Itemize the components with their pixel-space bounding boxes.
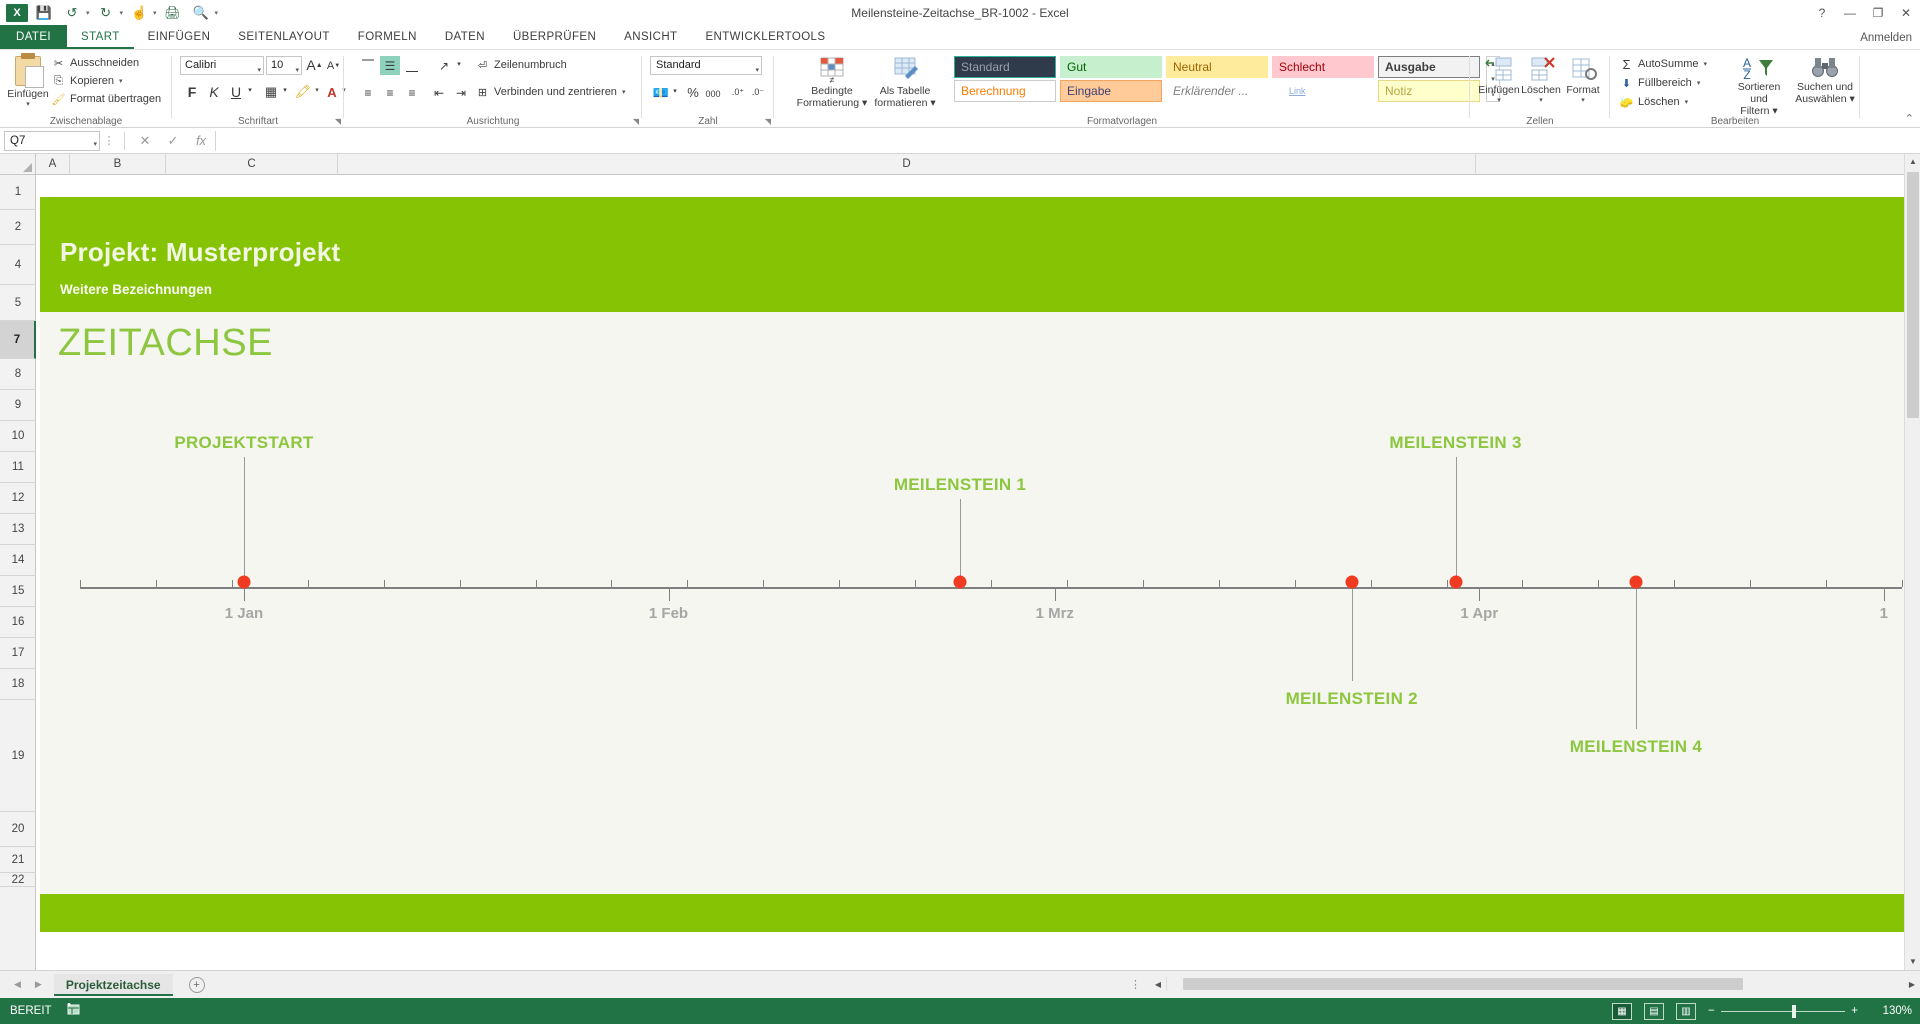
timeline-footer-banner bbox=[40, 894, 1910, 932]
cell-style-ausgabe[interactable]: Ausgabe bbox=[1378, 56, 1480, 78]
font-dialog-launcher[interactable]: ◥ bbox=[335, 117, 341, 126]
axis-minor-tick bbox=[1826, 580, 1827, 587]
row-header-1[interactable]: 1 bbox=[0, 175, 36, 210]
row-header-10[interactable]: 10 bbox=[0, 421, 36, 452]
number-format-combo[interactable]: Standard ▾ bbox=[650, 56, 762, 75]
hscroll-right-icon[interactable]: ▶ bbox=[1904, 980, 1920, 989]
axis-minor-tick bbox=[80, 580, 81, 587]
redo-icon[interactable]: ↻ bbox=[94, 3, 118, 23]
group-separator bbox=[1859, 56, 1860, 118]
wrap-text-button[interactable]: ⏎ Zeilenumbruch bbox=[476, 56, 567, 74]
format-dropdown-icon[interactable]: ▾ bbox=[1562, 96, 1604, 104]
column-header-c[interactable]: C bbox=[166, 154, 338, 175]
name-box[interactable]: Q7 ▾ bbox=[4, 131, 100, 151]
font-name-combo[interactable]: Calibri ▾ bbox=[180, 56, 264, 75]
fill-label: Füllbereich bbox=[1638, 77, 1692, 89]
axis-minor-tick bbox=[1219, 580, 1220, 587]
format-cells-icon bbox=[1562, 56, 1604, 84]
row-header-5[interactable]: 5 bbox=[0, 285, 36, 321]
axis-minor-tick bbox=[1750, 580, 1751, 587]
paintbrush-icon: 🖌 bbox=[52, 93, 65, 106]
axis-minor-tick bbox=[1067, 580, 1068, 587]
row-header-7[interactable]: 7 bbox=[0, 321, 36, 359]
tab-seitenlayout[interactable]: SEITENLAYOUT bbox=[224, 25, 344, 49]
number-dialog-launcher[interactable]: ◥ bbox=[765, 117, 771, 126]
print-preview-icon[interactable]: 🔍 bbox=[189, 3, 213, 23]
formula-bar: Q7 ▾ ⋮ ✕ ✓ fx bbox=[0, 128, 1920, 154]
group-label-styles: Formatvorlagen bbox=[774, 116, 1470, 127]
cell-style-link[interactable]: Link bbox=[1272, 80, 1374, 102]
row-header-2[interactable]: 2 bbox=[0, 210, 36, 245]
orientation-dropdown-icon[interactable]: ▾ bbox=[454, 60, 464, 68]
scroll-up-icon[interactable]: ▲ bbox=[1905, 154, 1920, 170]
font-name-value: Calibri bbox=[185, 59, 216, 71]
axis-major-tick bbox=[1884, 589, 1885, 601]
axis-minor-tick bbox=[1902, 580, 1903, 587]
view-page-break-icon[interactable]: ▥ bbox=[1676, 1003, 1696, 1020]
axis-major-tick bbox=[1479, 589, 1480, 601]
ribbon: Einfügen ▾ ✂ Ausschneiden ⎘ Kopieren ▾ 🖌… bbox=[0, 50, 1920, 128]
ribbon-tab-strip: DATEI START EINFÜGEN SEITENLAYOUT FORMEL… bbox=[0, 26, 1920, 50]
timeline-chart: 1 Jan1 Feb1 Mrz1 Apr1 PROJEKTSTARTMEILEN… bbox=[40, 362, 1910, 907]
axis-minor-tick bbox=[1674, 580, 1675, 587]
accept-entry-icon[interactable]: ✓ bbox=[159, 133, 187, 149]
insert-function-icon[interactable]: fx bbox=[187, 133, 215, 148]
clear-dropdown-icon[interactable]: ▾ bbox=[1685, 98, 1689, 106]
horizontal-scrollbar[interactable]: ⋮ ◀ ▶ bbox=[1130, 970, 1920, 998]
group-label-font: Schriftart bbox=[172, 116, 344, 127]
cell-style-schlecht[interactable]: Schlecht bbox=[1272, 56, 1374, 78]
save-icon[interactable]: 💾 bbox=[32, 3, 56, 23]
currency-dropdown-icon[interactable]: ▾ bbox=[670, 87, 680, 95]
qat-more-icon[interactable]: ▾ bbox=[215, 9, 219, 17]
timeline-section-title: ZEITACHSE bbox=[58, 322, 273, 365]
zoom-in-icon[interactable]: + bbox=[1851, 1005, 1858, 1017]
cell-style-gut[interactable]: Gut bbox=[1060, 56, 1162, 78]
axis-minor-tick bbox=[1447, 580, 1448, 587]
align-right-button[interactable]: ≡ bbox=[402, 83, 422, 102]
group-label-cells: Zellen bbox=[1470, 116, 1610, 127]
format-painter-button[interactable]: 🖌 Format übertragen bbox=[52, 90, 161, 108]
timeline-axis bbox=[80, 587, 1902, 589]
decrease-font-size-button[interactable]: A▼ bbox=[325, 56, 342, 75]
binoculars-icon bbox=[1794, 55, 1856, 81]
axis-minor-tick bbox=[1295, 580, 1296, 587]
find-select-label1: Suchen und bbox=[1794, 81, 1856, 93]
milestone-stem bbox=[960, 499, 961, 587]
find-select-button[interactable]: Suchen und Auswählen ▾ bbox=[1794, 55, 1856, 105]
thousands-format-button[interactable]: 000 bbox=[702, 86, 724, 101]
sheet-next-icon[interactable]: ▶ bbox=[35, 979, 42, 990]
copy-label: Kopieren bbox=[70, 75, 114, 87]
align-center-button[interactable]: ≡ bbox=[380, 83, 400, 102]
axis-minor-tick bbox=[1371, 580, 1372, 587]
zoom-out-icon[interactable]: − bbox=[1708, 1005, 1715, 1017]
sheet-tab-projektzeitachse[interactable]: Projektzeitachse bbox=[54, 974, 173, 996]
window-title: Meilensteine-Zeitachse_BR-1002 - Excel bbox=[0, 0, 1920, 26]
fill-button[interactable]: ⬇ Füllbereich ▾ bbox=[1620, 74, 1700, 92]
tab-entwicklertools[interactable]: ENTWICKLERTOOLS bbox=[691, 25, 839, 49]
touch-dropdown-icon[interactable]: ▾ bbox=[153, 9, 157, 17]
italic-button[interactable]: K bbox=[204, 82, 224, 102]
excel-logo-icon: X bbox=[6, 4, 28, 22]
increase-indent-button[interactable]: ⇥ bbox=[450, 83, 472, 102]
cancel-entry-icon[interactable]: ✕ bbox=[131, 133, 159, 149]
cell-style-berechnung[interactable]: Berechnung bbox=[954, 80, 1056, 102]
tab-daten[interactable]: DATEN bbox=[431, 25, 499, 49]
autosum-label: AutoSumme bbox=[1638, 58, 1699, 70]
sheet-tab-bar: ◀ ▶ Projektzeitachse + ⋮ ◀ ▶ bbox=[0, 970, 1920, 998]
milestone-dot bbox=[954, 576, 967, 589]
ribbon-group-styles: ≠ Bedingte Formatierung ▾ bbox=[774, 50, 1470, 128]
insert-cells-button[interactable]: Einfügen ▾ bbox=[1478, 56, 1520, 104]
delete-cells-label: Löschen bbox=[1520, 84, 1562, 96]
delete-dropdown-icon[interactable]: ▾ bbox=[1520, 96, 1562, 104]
copy-icon: ⎘ bbox=[52, 75, 65, 88]
select-all-button[interactable] bbox=[0, 154, 36, 175]
conditional-formatting-label1: Bedingte bbox=[796, 85, 868, 97]
milestone-label: MEILENSTEIN 2 bbox=[1286, 689, 1418, 709]
format-painter-label: Format übertragen bbox=[70, 93, 161, 105]
conditional-formatting-icon: ≠ bbox=[818, 56, 846, 84]
svg-text:≠: ≠ bbox=[830, 75, 835, 84]
group-label-editing: Bearbeiten bbox=[1610, 116, 1860, 127]
undo-dropdown-icon[interactable]: ▾ bbox=[86, 9, 90, 17]
view-normal-icon[interactable]: ▦ bbox=[1612, 1003, 1632, 1020]
title-bar: X 💾 ↺ ▾ ↻ ▾ ☝ ▾ 🖨 🔍 ▾ Meilensteine-Zeita… bbox=[0, 0, 1920, 26]
column-header-d[interactable]: D bbox=[338, 154, 1476, 175]
chevron-down-icon[interactable]: ▾ bbox=[93, 136, 97, 154]
view-page-layout-icon[interactable]: ▤ bbox=[1644, 1003, 1664, 1020]
paste-button[interactable]: Einfügen ▾ bbox=[6, 56, 50, 114]
tab-formeln[interactable]: FORMELN bbox=[344, 25, 431, 49]
percent-format-button[interactable]: % bbox=[684, 83, 702, 102]
formula-input[interactable] bbox=[215, 131, 1920, 151]
axis-minor-tick bbox=[1143, 580, 1144, 587]
scissors-icon: ✂ bbox=[52, 57, 65, 70]
copy-button[interactable]: ⎘ Kopieren ▾ bbox=[52, 72, 161, 90]
fill-color-button[interactable]: 🖍 bbox=[292, 82, 314, 102]
milestone-label: MEILENSTEIN 4 bbox=[1570, 737, 1702, 757]
cell-style-erklaerender[interactable]: Erklärender ... bbox=[1166, 80, 1268, 102]
axis-tick-label: 1 Apr bbox=[1460, 605, 1498, 622]
row-header-11[interactable]: 11 bbox=[0, 452, 36, 483]
chevron-down-icon[interactable]: ▾ bbox=[257, 62, 261, 79]
wrap-text-icon: ⏎ bbox=[476, 59, 489, 72]
axis-tick-label: 1 bbox=[1880, 605, 1888, 622]
underline-dropdown-icon[interactable]: ▾ bbox=[245, 86, 255, 94]
align-middle-button[interactable]: ☰ bbox=[380, 56, 400, 75]
axis-minor-tick bbox=[915, 580, 916, 587]
format-cells-button[interactable]: Format ▾ bbox=[1562, 56, 1604, 104]
axis-tick-label: 1 Feb bbox=[649, 605, 688, 622]
merge-cells-icon: ⊞ bbox=[476, 86, 489, 99]
insert-cells-label: Einfügen bbox=[1478, 84, 1520, 96]
milestone-label: MEILENSTEIN 1 bbox=[894, 475, 1026, 495]
restore-icon[interactable]: ❐ bbox=[1870, 6, 1886, 20]
fill-dropdown-icon[interactable]: ▾ bbox=[1697, 79, 1701, 87]
axis-minor-tick bbox=[460, 580, 461, 587]
column-header-b[interactable]: B bbox=[70, 154, 166, 175]
tab-einfuegen[interactable]: EINFÜGEN bbox=[134, 25, 225, 49]
horizontal-scroll-thumb[interactable] bbox=[1183, 978, 1743, 990]
merge-dropdown-icon[interactable]: ▾ bbox=[622, 88, 626, 96]
touch-mode-icon[interactable]: ☝ bbox=[127, 3, 151, 23]
scroll-down-icon[interactable]: ▼ bbox=[1905, 954, 1920, 970]
cell-style-standard[interactable]: Standard bbox=[954, 56, 1056, 78]
paste-label: Einfügen bbox=[7, 88, 48, 100]
format-as-table-label1: Als Tabelle bbox=[870, 85, 940, 97]
format-cells-label: Format bbox=[1562, 84, 1604, 96]
row-header-13[interactable]: 13 bbox=[0, 514, 36, 545]
insert-cells-icon bbox=[1478, 56, 1520, 84]
milestone-dot bbox=[1449, 576, 1462, 589]
axis-minor-tick bbox=[536, 580, 537, 587]
undo-icon[interactable]: ↺ bbox=[60, 3, 84, 23]
axis-major-tick bbox=[244, 589, 245, 601]
paste-icon bbox=[15, 56, 41, 86]
row-header-17[interactable]: 17 bbox=[0, 638, 36, 669]
minimize-icon[interactable]: — bbox=[1842, 6, 1858, 20]
axis-major-tick bbox=[1055, 589, 1056, 601]
ribbon-group-cells: Einfügen ▾ Löschen ▾ bbox=[1470, 50, 1610, 128]
timeline-card: Projekt: Musterprojekt Weitere Bezeichnu… bbox=[40, 197, 1910, 932]
ribbon-group-clipboard: Einfügen ▾ ✂ Ausschneiden ⎘ Kopieren ▾ 🖌… bbox=[0, 50, 172, 128]
decrease-indent-button[interactable]: ⇤ bbox=[428, 83, 450, 102]
copy-dropdown-icon[interactable]: ▾ bbox=[119, 77, 123, 85]
ribbon-group-editing: Σ AutoSumme ▾ ⬇ Füllbereich ▾ 🧽 Löschen … bbox=[1610, 50, 1860, 128]
sheet-prev-icon[interactable]: ◀ bbox=[14, 979, 21, 990]
milestone-dot bbox=[1629, 576, 1642, 589]
sheet-nav-arrows: ◀ ▶ bbox=[0, 979, 42, 990]
conditional-formatting-button[interactable]: ≠ Bedingte Formatierung ▾ bbox=[796, 56, 868, 109]
autosum-button[interactable]: Σ AutoSumme ▾ bbox=[1620, 55, 1707, 73]
format-as-table-label2: formatieren ▾ bbox=[870, 97, 940, 109]
tab-ansicht[interactable]: ANSICHT bbox=[610, 25, 691, 49]
borders-button[interactable]: ▦ bbox=[260, 82, 282, 102]
bold-button[interactable]: F bbox=[182, 82, 202, 102]
worksheet-grid: A B C D 1 2 4 5 7 8 9 10 11 12 13 14 15 … bbox=[0, 154, 1920, 970]
tab-start[interactable]: START bbox=[67, 25, 134, 49]
increase-font-size-button[interactable]: A▲ bbox=[306, 55, 323, 75]
milestone-stem bbox=[1636, 589, 1637, 729]
ribbon-group-font: Calibri ▾ 10 ▾ A▲ A▼ F K U ▾ ▦ ▾ 🖍 ▾ A ▾… bbox=[172, 50, 344, 128]
fill-down-icon: ⬇ bbox=[1620, 77, 1633, 90]
sigma-icon: Σ bbox=[1620, 58, 1633, 71]
milestone-dot bbox=[237, 576, 250, 589]
axis-minor-tick bbox=[991, 580, 992, 587]
vertical-scroll-thumb[interactable] bbox=[1907, 172, 1919, 418]
row-header-22[interactable]: 22 bbox=[0, 873, 36, 887]
conditional-formatting-label2: Formatierung ▾ bbox=[796, 97, 868, 109]
clear-label: Löschen bbox=[1638, 96, 1680, 108]
axis-minor-tick bbox=[839, 580, 840, 587]
find-select-label2: Auswählen ▾ bbox=[1794, 93, 1856, 105]
redo-dropdown-icon[interactable]: ▾ bbox=[120, 9, 124, 17]
delete-cells-button[interactable]: Löschen ▾ bbox=[1520, 56, 1562, 104]
tab-ueberpruefen[interactable]: ÜBERPRÜFEN bbox=[499, 25, 610, 49]
axis-minor-tick bbox=[232, 580, 233, 587]
font-size-value: 10 bbox=[271, 59, 283, 71]
row-header-19[interactable]: 19 bbox=[0, 700, 36, 812]
fill-color-dropdown-icon[interactable]: ▾ bbox=[312, 86, 322, 94]
milestone-label: MEILENSTEIN 3 bbox=[1389, 433, 1521, 453]
milestone-label: PROJEKTSTART bbox=[174, 433, 313, 453]
axis-minor-tick bbox=[308, 580, 309, 587]
alignment-dialog-launcher[interactable]: ◥ bbox=[633, 117, 639, 126]
divider bbox=[124, 132, 125, 150]
row-header-15[interactable]: 15 bbox=[0, 576, 36, 607]
column-headers: A B C D bbox=[36, 154, 1920, 175]
merge-center-label: Verbinden und zentrieren bbox=[494, 86, 617, 98]
split-handle-icon[interactable]: ⋮ bbox=[1130, 978, 1142, 991]
project-title: Projekt: Musterprojekt bbox=[60, 237, 340, 268]
zoom-track[interactable] bbox=[1721, 1011, 1846, 1012]
row-header-14[interactable]: 14 bbox=[0, 545, 36, 576]
axis-minor-tick bbox=[687, 580, 688, 587]
sheet-cells-area[interactable]: Projekt: Musterprojekt Weitere Bezeichnu… bbox=[36, 175, 1920, 970]
chevron-down-icon[interactable]: ▾ bbox=[755, 62, 759, 79]
sort-filter-button[interactable]: A Z Sortieren und Filtern ▾ bbox=[1728, 55, 1790, 117]
axis-minor-tick bbox=[611, 580, 612, 587]
hscroll-track[interactable] bbox=[1166, 977, 1904, 991]
sort-filter-label1: Sortieren und bbox=[1728, 81, 1790, 105]
sort-filter-icon: A Z bbox=[1728, 55, 1790, 81]
group-label-alignment: Ausrichtung bbox=[344, 116, 642, 127]
font-size-combo[interactable]: 10 ▾ bbox=[266, 56, 302, 75]
row-headers: 1 2 4 5 7 8 9 10 11 12 13 14 15 16 17 18… bbox=[0, 175, 36, 970]
orientation-button[interactable]: ↗ bbox=[434, 56, 454, 75]
axis-minor-tick bbox=[384, 580, 385, 587]
vertical-scrollbar[interactable]: ▲ ▼ bbox=[1904, 154, 1920, 970]
align-top-button[interactable]: ⎺ bbox=[358, 56, 378, 75]
column-header-a[interactable]: A bbox=[36, 154, 70, 175]
hscroll-left-icon[interactable]: ◀ bbox=[1150, 980, 1166, 989]
group-label-number: Zahl bbox=[642, 116, 774, 127]
row-header-18[interactable]: 18 bbox=[0, 669, 36, 700]
sign-in-link[interactable]: Anmelden bbox=[1860, 26, 1912, 50]
align-left-button[interactable]: ≡ bbox=[358, 83, 378, 102]
row-header-4[interactable]: 4 bbox=[0, 245, 36, 285]
formula-bar-menu-icon[interactable]: ⋮ bbox=[100, 134, 118, 147]
row-header-20[interactable]: 20 bbox=[0, 812, 36, 847]
align-bottom-button[interactable]: ⎽ bbox=[402, 56, 422, 75]
borders-dropdown-icon[interactable]: ▾ bbox=[280, 86, 290, 94]
axis-tick-label: 1 Mrz bbox=[1036, 605, 1074, 622]
status-state: BEREIT bbox=[10, 1005, 52, 1017]
zoom-slider[interactable]: − + bbox=[1708, 1005, 1858, 1017]
underline-button[interactable]: U bbox=[226, 82, 246, 102]
number-format-value: Standard bbox=[656, 59, 701, 71]
group-label-clipboard: Zwischenablage bbox=[0, 116, 172, 127]
cut-button[interactable]: ✂ Ausschneiden bbox=[52, 54, 161, 72]
axis-minor-tick bbox=[156, 580, 157, 587]
decrease-decimal-button[interactable]: .0⁻ bbox=[748, 83, 768, 102]
milestone-stem bbox=[1456, 457, 1457, 587]
axis-minor-tick bbox=[1598, 580, 1599, 587]
insert-dropdown-icon[interactable]: ▾ bbox=[1478, 96, 1520, 104]
format-as-table-button[interactable]: Als Tabelle formatieren ▾ bbox=[870, 56, 940, 109]
milestone-stem bbox=[1352, 589, 1353, 681]
delete-cells-icon bbox=[1520, 56, 1562, 84]
status-bar: BEREIT ▦ ▤ ▥ − + 130% bbox=[0, 998, 1920, 1024]
milestone-stem bbox=[244, 457, 245, 587]
close-icon[interactable]: ✕ bbox=[1898, 6, 1914, 20]
tab-datei[interactable]: DATEI bbox=[0, 25, 67, 49]
window-controls: ? — ❐ ✕ bbox=[1814, 0, 1914, 26]
zoom-level[interactable]: 130% bbox=[1870, 1005, 1912, 1017]
paste-dropdown-icon[interactable]: ▾ bbox=[26, 100, 30, 108]
quick-access-toolbar: X 💾 ↺ ▾ ↻ ▾ ☝ ▾ 🖨 🔍 ▾ bbox=[0, 0, 218, 26]
format-as-table-icon bbox=[891, 56, 919, 84]
axis-major-tick bbox=[669, 589, 670, 601]
project-subtitle: Weitere Bezeichnungen bbox=[60, 282, 212, 297]
cut-label: Ausschneiden bbox=[70, 57, 139, 69]
row-header-21[interactable]: 21 bbox=[0, 847, 36, 873]
cell-style-neutral[interactable]: Neutral bbox=[1166, 56, 1268, 78]
help-icon[interactable]: ? bbox=[1814, 6, 1830, 20]
currency-format-button[interactable]: 💶 bbox=[650, 83, 672, 102]
wrap-text-label: Zeilenumbruch bbox=[494, 59, 567, 71]
name-box-value: Q7 bbox=[10, 135, 25, 147]
cell-style-notiz[interactable]: Notiz bbox=[1378, 80, 1480, 102]
ribbon-group-alignment: ⎺ ☰ ⎽ ↗ ▾ ⏎ Zeilenumbruch ≡ ≡ ≡ ⇤ ⇥ ⊞ Ve… bbox=[344, 50, 642, 128]
row-header-9[interactable]: 9 bbox=[0, 390, 36, 421]
collapse-ribbon-icon[interactable]: ⌃ bbox=[1905, 112, 1914, 125]
axis-tick-label: 1 Jan bbox=[225, 605, 263, 622]
axis-minor-tick bbox=[763, 580, 764, 587]
chevron-down-icon[interactable]: ▾ bbox=[295, 62, 299, 79]
row-header-12[interactable]: 12 bbox=[0, 483, 36, 514]
cell-style-eingabe[interactable]: Eingabe bbox=[1060, 80, 1162, 102]
eraser-icon: 🧽 bbox=[1620, 96, 1633, 109]
add-sheet-icon[interactable]: + bbox=[189, 977, 205, 993]
macro-record-icon[interactable] bbox=[66, 1003, 81, 1019]
axis-minor-tick bbox=[1522, 580, 1523, 587]
ribbon-group-number: Standard ▾ 💶 ▾ % 000 .0⁺ .0⁻ Zahl ◥ bbox=[642, 50, 774, 128]
merge-center-button[interactable]: ⊞ Verbinden und zentrieren ▾ bbox=[476, 83, 625, 101]
milestone-dot bbox=[1345, 576, 1358, 589]
row-header-8[interactable]: 8 bbox=[0, 359, 36, 390]
excel-window: X 💾 ↺ ▾ ↻ ▾ ☝ ▾ 🖨 🔍 ▾ Meilensteine-Zeita… bbox=[0, 0, 1920, 1024]
print-icon[interactable]: 🖨 bbox=[161, 3, 185, 23]
increase-decimal-button[interactable]: .0⁺ bbox=[728, 83, 748, 102]
row-header-16[interactable]: 16 bbox=[0, 607, 36, 638]
svg-text:Z: Z bbox=[1743, 68, 1750, 81]
autosum-dropdown-icon[interactable]: ▾ bbox=[1704, 60, 1708, 68]
clear-button[interactable]: 🧽 Löschen ▾ bbox=[1620, 93, 1688, 111]
zoom-thumb[interactable] bbox=[1792, 1005, 1796, 1018]
